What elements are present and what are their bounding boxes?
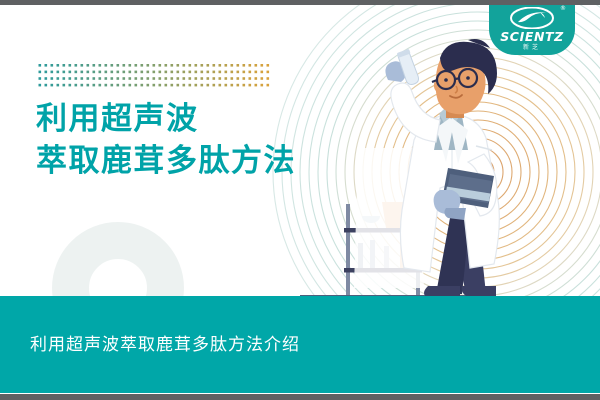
dot-gradient-pattern	[38, 63, 272, 91]
headline-line-2: 萃取鹿茸多肽方法	[36, 142, 296, 180]
registered-trademark-icon: ®	[560, 5, 566, 12]
top-chrome-bar	[0, 0, 600, 5]
scientist-with-test-tube	[300, 18, 600, 318]
caption-text: 利用超声波萃取鹿茸多肽方法介绍	[30, 330, 300, 355]
caption-bar: 利用超声波萃取鹿茸多肽方法介绍	[0, 296, 600, 393]
page-title: 利用超声波 萃取鹿茸多肽方法	[36, 100, 296, 180]
scientz-logo[interactable]: ® SCIENTZ 新芝	[489, 0, 575, 55]
bottom-chrome-bar	[0, 394, 600, 400]
logo-chinese-mark: 新芝	[489, 42, 575, 51]
promo-banner: 利用超声波 萃取鹿茸多肽方法	[0, 0, 600, 400]
headline-line-1: 利用超声波	[36, 100, 296, 138]
logo-badge: ® SCIENTZ 新芝	[489, 0, 575, 55]
logo-swoosh-icon	[510, 7, 554, 29]
